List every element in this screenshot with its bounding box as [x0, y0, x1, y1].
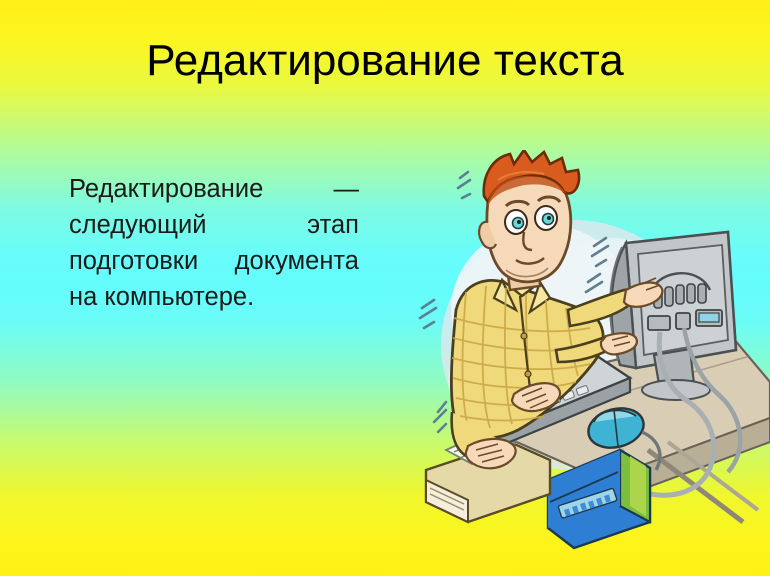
slide: Редактирование текста Редактирование — с… — [0, 0, 770, 576]
body-paragraph: Редактирование — следующий этап подготов… — [69, 171, 359, 315]
illustration-person-typing-at-computer — [398, 150, 770, 560]
page-title: Редактирование текста — [0, 33, 770, 89]
